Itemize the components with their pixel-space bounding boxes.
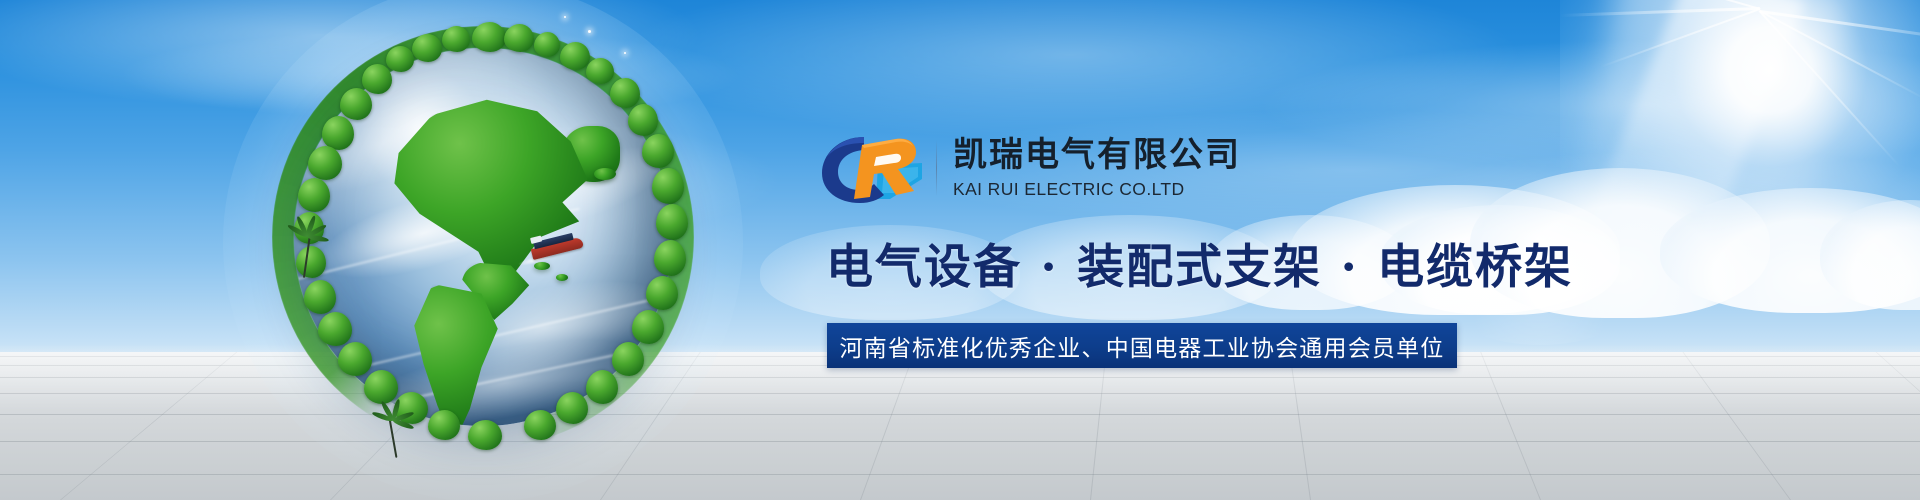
brand-divider: [936, 140, 937, 196]
green-earth-globe: [268, 22, 698, 452]
sparkle: [624, 52, 626, 54]
sparkle: [588, 30, 591, 33]
credentials-badge: 河南省标准化优秀企业、中国电器工业协会通用会员单位: [827, 323, 1457, 368]
brand-text: 凯瑞电气有限公司 KAI RUI ELECTRIC CO.LTD: [953, 136, 1241, 200]
sparkle: [564, 16, 566, 18]
globe-sphere: [294, 48, 672, 426]
company-name-en: KAI RUI ELECTRIC CO.LTD: [953, 179, 1241, 200]
cr-monogram-logo[interactable]: [818, 129, 930, 207]
credentials-badge-text: 河南省标准化优秀企业、中国电器工业协会通用会员单位: [840, 329, 1445, 363]
hero-banner: 凯瑞电气有限公司 KAI RUI ELECTRIC CO.LTD 电气设备 · …: [0, 0, 1920, 500]
brand-lockup[interactable]: 凯瑞电气有限公司 KAI RUI ELECTRIC CO.LTD: [818, 124, 1278, 212]
company-name-cn: 凯瑞电气有限公司: [953, 136, 1241, 175]
banner-slogan: 电气设备 · 装配式支架 · 电缆桥架: [826, 228, 1573, 297]
